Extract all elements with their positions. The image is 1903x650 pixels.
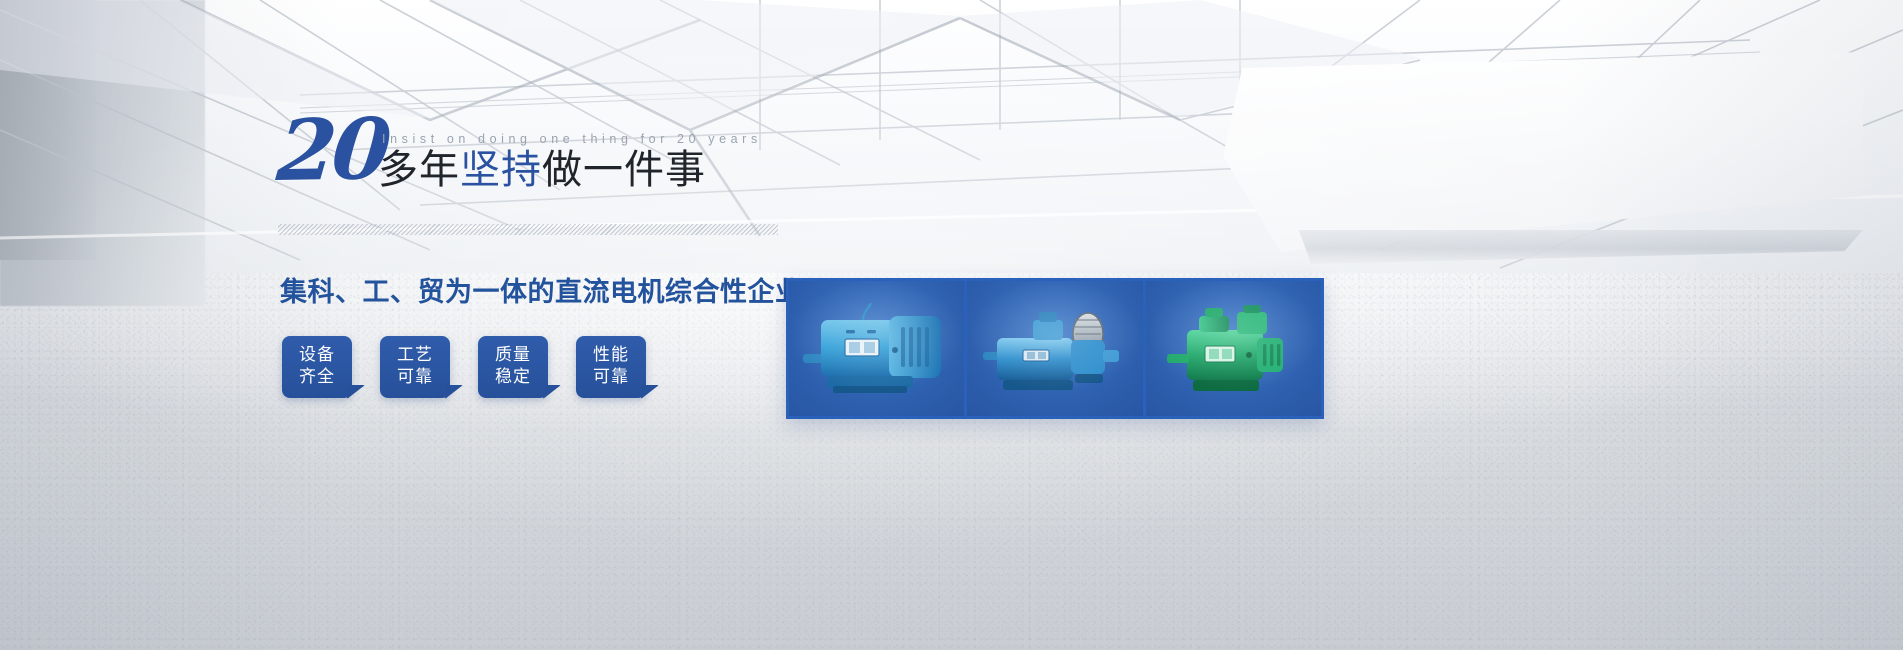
headline-suffix: 做一件事 (542, 147, 706, 193)
dotted-divider (278, 224, 778, 235)
english-tagline: Insist on doing one thing for 20 years (382, 132, 762, 146)
headline-highlight: 坚持 (460, 147, 542, 193)
badge-line-1: 性能 (593, 345, 629, 367)
page-title: 多年坚持做一件事 (378, 150, 706, 190)
hero-banner: 20 Insist on doing one thing for 20 year… (0, 0, 1903, 650)
sub-headline: 集科、工、贸为一体的直流电机综合性企业 (280, 270, 803, 309)
badge-line-2: 可靠 (593, 367, 629, 389)
badge-line-1: 设备 (299, 345, 335, 367)
feature-badge[interactable]: 质量 稳定 (478, 336, 548, 398)
product-cell-dc-motor-blue-large[interactable] (789, 281, 964, 416)
years-number: 20 (274, 107, 390, 193)
badge-line-2: 可靠 (397, 367, 433, 389)
feature-badge[interactable]: 性能 可靠 (576, 336, 646, 398)
badge-line-2: 齐全 (299, 367, 335, 389)
headline-row: 20 Insist on doing one thing for 20 year… (278, 118, 838, 192)
dc-motor-blue-large-icon (797, 294, 957, 404)
dc-motor-green-icon (1153, 294, 1313, 404)
badge-line-1: 工艺 (397, 345, 433, 367)
product-cell-dc-motor-green[interactable] (1143, 281, 1321, 416)
badge-line-2: 稳定 (495, 367, 531, 389)
dc-motor-blue-blower-icon (975, 294, 1135, 404)
badge-line-1: 质量 (495, 345, 531, 367)
product-showcase-panel (786, 278, 1324, 419)
feature-badge-list: 设备 齐全 工艺 可靠 质量 稳定 性能 可靠 (282, 336, 646, 398)
hero-copy: 20 Insist on doing one thing for 20 year… (278, 118, 838, 192)
feature-badge[interactable]: 设备 齐全 (282, 336, 352, 398)
feature-badge[interactable]: 工艺 可靠 (380, 336, 450, 398)
headline-prefix: 多年 (378, 147, 460, 193)
product-cell-dc-motor-blue-blower[interactable] (964, 281, 1142, 416)
